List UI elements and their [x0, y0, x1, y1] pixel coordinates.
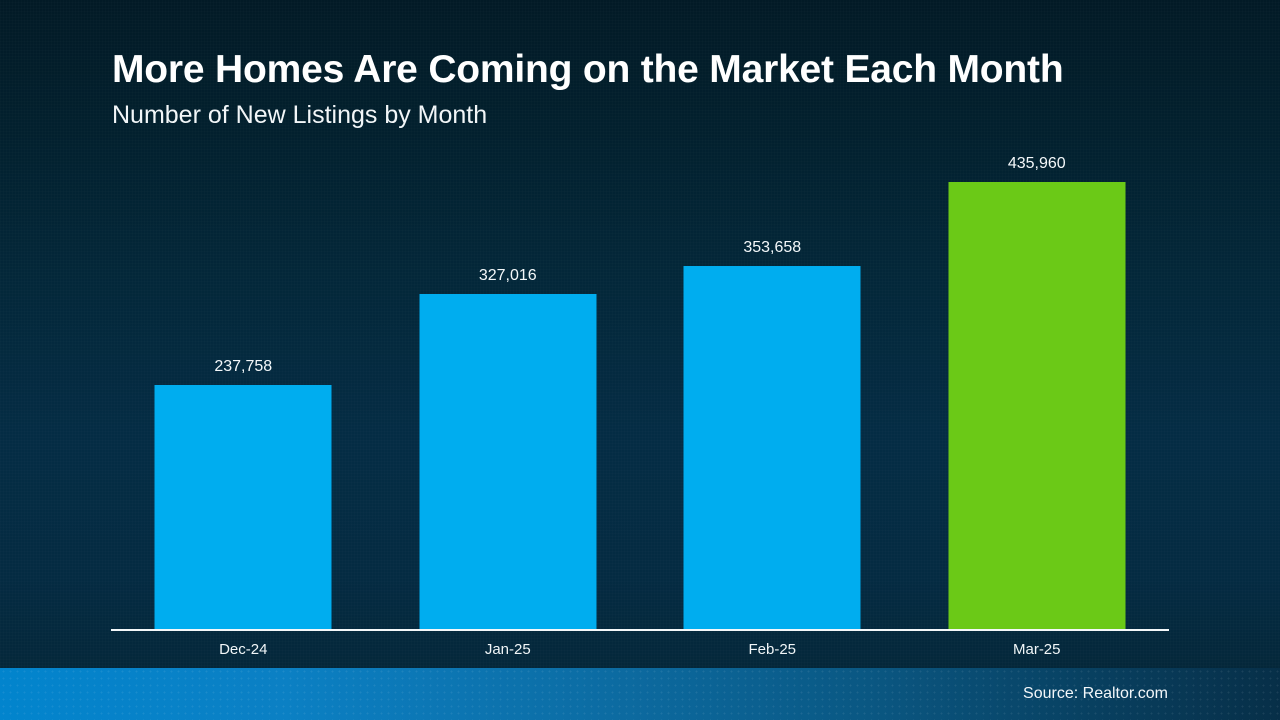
footer-band: Source: Realtor.com: [0, 668, 1280, 720]
bar-dec-24[interactable]: 237,758: [155, 385, 332, 630]
bar-slot: 435,960: [905, 160, 1170, 630]
bar-value-label: 353,658: [743, 239, 801, 257]
bar-value-label: 327,016: [479, 267, 537, 285]
bar-jan-25[interactable]: 327,016: [419, 294, 596, 630]
x-axis-tick-labels: Dec-24Jan-25Feb-25Mar-25: [111, 638, 1169, 666]
bar-series: 237,758327,016353,658435,960: [111, 160, 1169, 630]
chart-subtitle: Number of New Listings by Month: [112, 98, 1063, 132]
bar-slot: 353,658: [640, 160, 905, 630]
chart-header: More Homes Are Coming on the Market Each…: [112, 44, 1063, 132]
x-axis-label-jan-25: Jan-25: [376, 638, 641, 666]
x-axis-label-mar-25: Mar-25: [905, 638, 1170, 666]
x-axis-label-dec-24: Dec-24: [111, 638, 376, 666]
page-title: More Homes Are Coming on the Market Each…: [112, 44, 1063, 96]
chart-slide: More Homes Are Coming on the Market Each…: [0, 0, 1280, 720]
source-attribution: Source: Realtor.com: [1023, 684, 1168, 704]
bar-slot: 327,016: [376, 160, 641, 630]
bar-mar-25[interactable]: 435,960: [948, 182, 1125, 630]
x-axis-line: [111, 629, 1169, 631]
bar-slot: 237,758: [111, 160, 376, 630]
bar-value-label: 435,960: [1008, 155, 1066, 173]
x-axis-label-feb-25: Feb-25: [640, 638, 905, 666]
plot-area: 237,758327,016353,658435,960: [111, 160, 1169, 630]
bar-feb-25[interactable]: 353,658: [684, 266, 861, 630]
bar-value-label: 237,758: [214, 358, 272, 376]
